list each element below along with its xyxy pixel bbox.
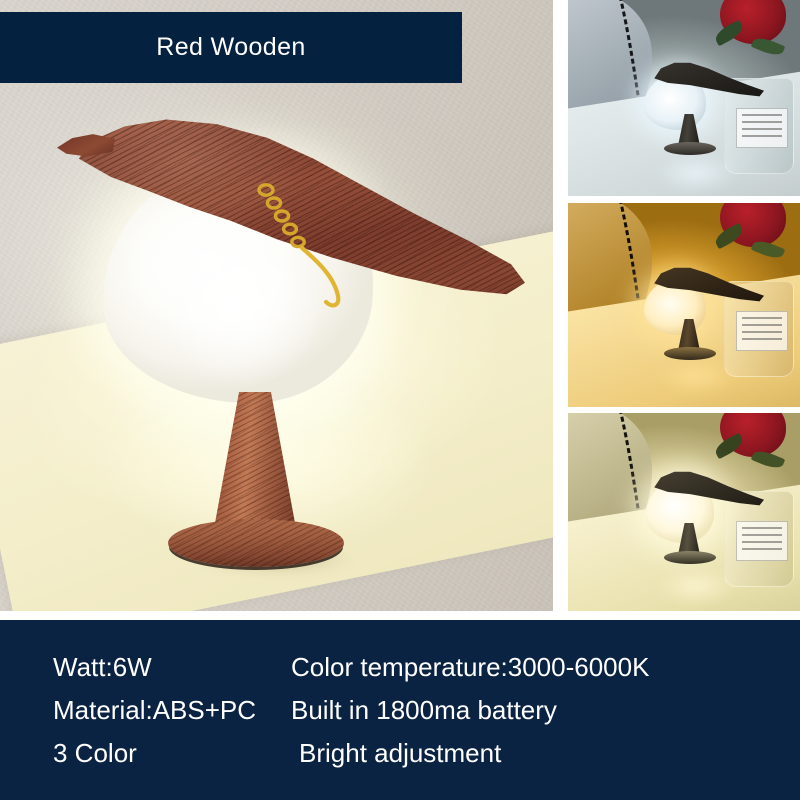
spec-battery: Built in 1800ma battery: [291, 695, 557, 725]
scene-thumbnail-column: [568, 0, 800, 611]
room-scene-warm-amber: [568, 203, 800, 407]
spec-row: Material:ABS+PC Built in 1800ma battery: [0, 689, 800, 732]
spec-row: Watt:6W Color temperature:3000-6000K: [0, 646, 800, 689]
mini-bird-lamp: [644, 261, 774, 361]
light-pool: [640, 563, 752, 609]
mini-bird-lamp: [644, 465, 774, 569]
variant-title-banner: Red Wooden: [0, 12, 462, 83]
mini-bird-lamp: [644, 56, 774, 156]
bird-lamp-figure: [55, 108, 525, 408]
spec-cell-right: Bright adjustment: [291, 740, 800, 767]
spec-cell-left: Watt:6W: [0, 654, 291, 681]
product-image-page: Red Wooden: [0, 0, 800, 800]
spec-cell-left: 3 Color: [0, 740, 291, 767]
main-product-photo[interactable]: [0, 0, 553, 611]
lamp-base: [168, 519, 344, 567]
mini-base: [664, 142, 716, 155]
spec-brightness: Bright adjustment: [299, 738, 501, 768]
spec-material: Material:ABS+PC: [53, 695, 256, 725]
mini-base: [664, 347, 716, 360]
spec-cell-left: Material:ABS+PC: [0, 697, 291, 724]
thumbnail-scene-warm-white[interactable]: [568, 413, 800, 611]
spec-color-temperature: Color temperature:3000-6000K: [291, 652, 649, 682]
spec-row: 3 Color Bright adjustment: [0, 732, 800, 775]
spec-color-count: 3 Color: [53, 738, 137, 768]
room-scene-warm-white: [568, 413, 800, 611]
room-scene-cool-white: [568, 0, 800, 196]
spec-watt: Watt:6W: [53, 652, 152, 682]
variant-title-text: Red Wooden: [156, 35, 305, 60]
gold-chain-icon: [252, 180, 348, 310]
thumbnail-scene-cool-white[interactable]: [568, 0, 800, 196]
base-wood-grain: [168, 519, 344, 567]
spec-cell-right: Color temperature:3000-6000K: [291, 654, 800, 681]
spec-cell-right: Built in 1800ma battery: [291, 697, 800, 724]
specifications-panel: Watt:6W Color temperature:3000-6000K Mat…: [0, 620, 800, 800]
spec-grid: Watt:6W Color temperature:3000-6000K Mat…: [0, 620, 800, 800]
thumbnail-scene-warm-amber[interactable]: [568, 203, 800, 407]
light-pool: [640, 150, 752, 196]
mini-base: [664, 551, 716, 564]
